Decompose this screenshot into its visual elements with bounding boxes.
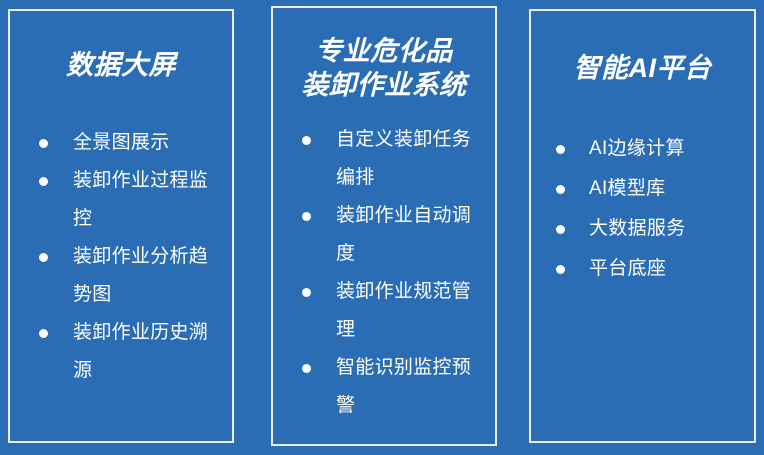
bullet-icon bbox=[39, 329, 48, 338]
list-item-label: 大数据服务 bbox=[589, 209, 749, 249]
list-item-label: AI边缘计算 bbox=[589, 129, 749, 169]
panel-data-dashboard: 数据大屏 全景图展示 装卸作业过程监控 装卸作业分析趋势图 装卸作业历史溯源 bbox=[8, 9, 234, 443]
list-item-label: 装卸作业规范管理 bbox=[336, 273, 488, 349]
list-item: AI边缘计算 bbox=[531, 129, 754, 169]
panel-title: 数据大屏 bbox=[10, 49, 232, 83]
bullet-icon bbox=[302, 136, 311, 145]
list-item: 全景图展示 bbox=[10, 124, 232, 162]
panel-title: 智能AI平台 bbox=[531, 52, 754, 86]
list-item-label: AI模型库 bbox=[589, 169, 749, 209]
list-item: AI模型库 bbox=[531, 169, 754, 209]
feature-panels-board: 数据大屏 全景图展示 装卸作业过程监控 装卸作业分析趋势图 装卸作业历史溯源 专… bbox=[0, 0, 764, 455]
bullet-icon bbox=[39, 177, 48, 186]
feature-list: 全景图展示 装卸作业过程监控 装卸作业分析趋势图 装卸作业历史溯源 bbox=[10, 124, 232, 390]
list-item: 装卸作业规范管理 bbox=[273, 273, 495, 349]
list-item: 装卸作业过程监控 bbox=[10, 162, 232, 238]
list-item: 装卸作业自动调度 bbox=[273, 197, 495, 273]
bullet-icon bbox=[302, 288, 311, 297]
list-item-label: 智能识别监控预警 bbox=[336, 349, 488, 425]
feature-list: AI边缘计算 AI模型库 大数据服务 平台底座 bbox=[531, 129, 754, 289]
bullet-icon bbox=[302, 364, 311, 373]
panel-intelligent-ai-platform: 智能AI平台 AI边缘计算 AI模型库 大数据服务 平台底座 bbox=[529, 9, 756, 443]
list-item-label: 装卸作业分析趋势图 bbox=[73, 238, 225, 314]
bullet-icon bbox=[556, 185, 565, 194]
list-item: 装卸作业分析趋势图 bbox=[10, 238, 232, 314]
list-item: 智能识别监控预警 bbox=[273, 349, 495, 425]
list-item-label: 装卸作业过程监控 bbox=[73, 162, 225, 238]
list-item-label: 全景图展示 bbox=[73, 124, 225, 162]
list-item: 大数据服务 bbox=[531, 209, 754, 249]
list-item: 平台底座 bbox=[531, 249, 754, 289]
list-item: 装卸作业历史溯源 bbox=[10, 314, 232, 390]
bullet-icon bbox=[556, 145, 565, 154]
list-item-label: 装卸作业自动调度 bbox=[336, 197, 488, 273]
feature-list: 自定义装卸任务编排 装卸作业自动调度 装卸作业规范管理 智能识别监控预警 bbox=[273, 121, 495, 425]
list-item: 自定义装卸任务编排 bbox=[273, 121, 495, 197]
panel-title: 专业危化品 装卸作业系统 bbox=[273, 35, 495, 103]
bullet-icon bbox=[39, 139, 48, 148]
bullet-icon bbox=[302, 212, 311, 221]
bullet-icon bbox=[556, 265, 565, 274]
bullet-icon bbox=[556, 225, 565, 234]
panel-hazchem-loading-system: 专业危化品 装卸作业系统 自定义装卸任务编排 装卸作业自动调度 装卸作业规范管理… bbox=[271, 6, 497, 446]
list-item-label: 自定义装卸任务编排 bbox=[336, 121, 488, 197]
list-item-label: 装卸作业历史溯源 bbox=[73, 314, 225, 390]
list-item-label: 平台底座 bbox=[589, 249, 749, 289]
bullet-icon bbox=[39, 253, 48, 262]
